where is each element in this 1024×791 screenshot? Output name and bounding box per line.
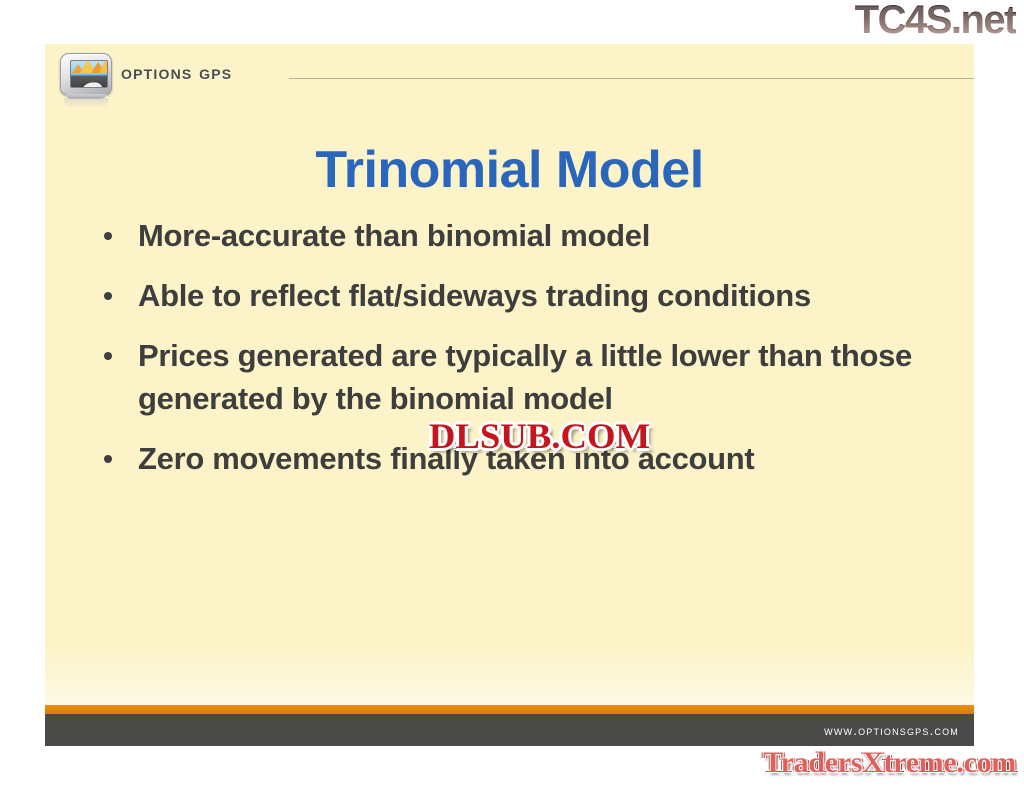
footer-accent-bar [45,705,974,714]
list-item: More-accurate than binomial model [100,214,945,257]
tc4s-watermark: TC4S.net [855,0,1016,42]
page-title: Trinomial Model [45,141,974,199]
bullet-dot-icon [104,455,112,463]
list-item-text: Able to reflect flat/sideways trading co… [138,278,811,313]
road-icon [81,83,103,88]
presentation-slide: Options GPS Trinomial Model More-accurat… [45,44,974,746]
bullet-dot-icon [104,292,112,300]
list-item-text: Prices generated are typically a little … [138,338,912,416]
gps-device-icon [58,53,114,101]
bullet-dot-icon [104,232,112,240]
bullet-dot-icon [104,352,112,360]
slide-header: Options GPS [45,44,974,106]
gps-device-body [60,53,112,95]
mountain-peak-icon [99,60,108,73]
gps-device-screen [70,60,108,88]
dlsub-watermark: DLSUB.COM [423,416,657,456]
brand-name: Options GPS [121,62,232,85]
list-item-text: More-accurate than binomial model [138,218,650,253]
list-item: Prices generated are typically a little … [100,334,945,420]
tradersxtreme-watermark: TradersXtreme.com [763,747,1016,779]
header-divider [289,78,974,79]
gps-device-reflection [64,98,108,108]
slide-footer: www.OptionsGPS.com [45,714,974,746]
list-item: Able to reflect flat/sideways trading co… [100,274,945,317]
footer-url: www.OptionsGPS.com [824,723,959,738]
